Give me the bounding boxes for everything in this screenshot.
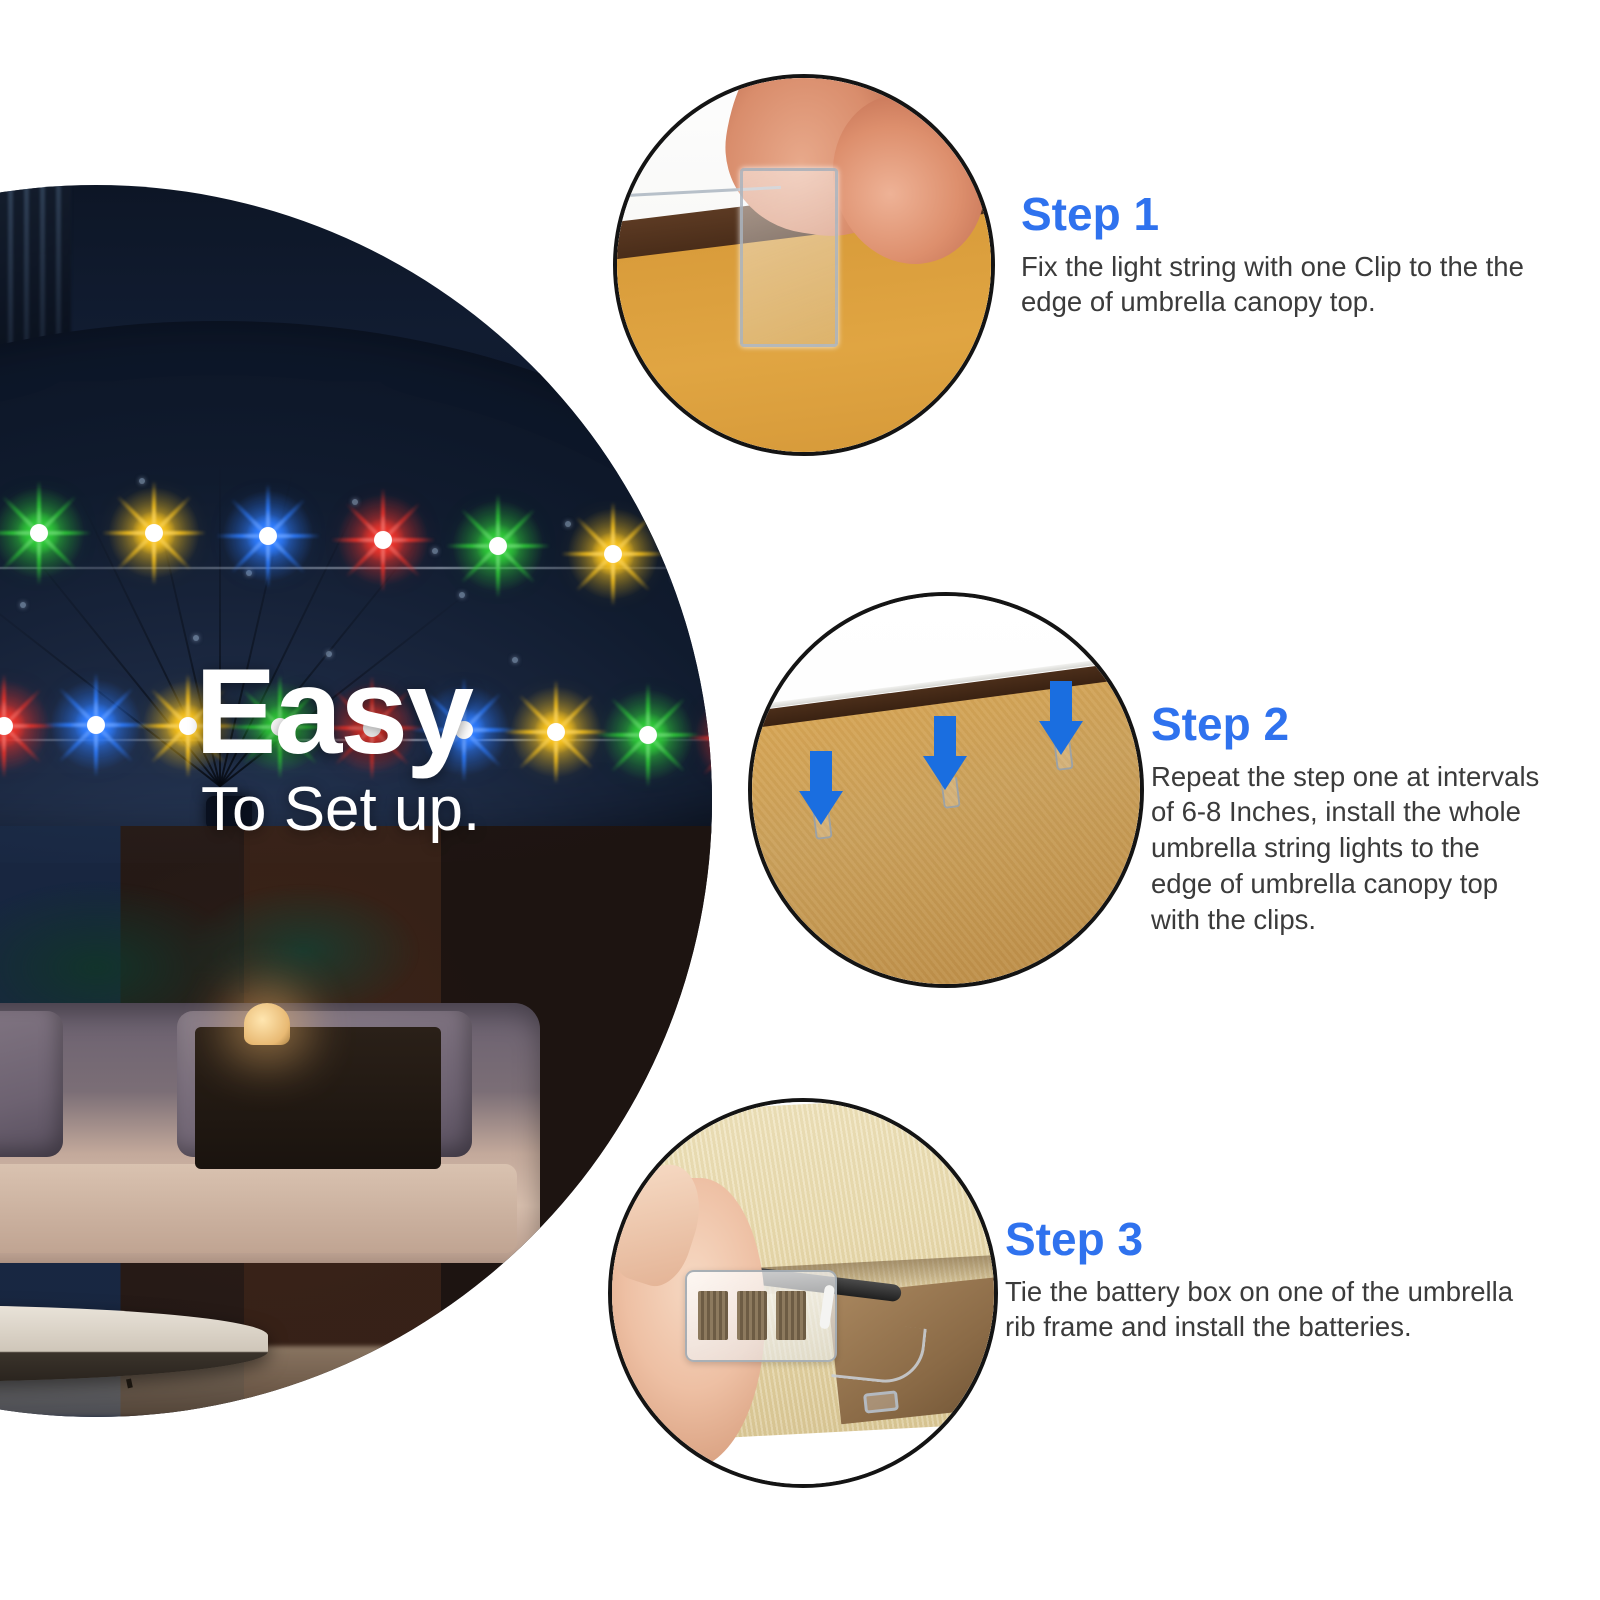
down-arrow-icon	[923, 716, 967, 790]
step-2-text: Step 2 Repeat the step one at intervals …	[1151, 700, 1541, 937]
water-droplet	[20, 602, 26, 608]
clear-clip	[863, 1391, 899, 1414]
step-3-text: Step 3 Tie the battery box on one of the…	[1005, 1215, 1535, 1345]
hero-headline: Easy To Set up.	[195, 655, 480, 842]
step-1-text: Step 1 Fix the light string with one Cli…	[1021, 190, 1531, 320]
water-droplet	[139, 478, 145, 484]
step-1-photo	[613, 74, 995, 456]
step-1-title: Step 1	[1021, 190, 1531, 240]
clear-clip	[740, 168, 837, 348]
step-2-photo	[748, 592, 1144, 988]
battery-cell	[776, 1291, 806, 1340]
down-arrow-icon	[1039, 681, 1083, 755]
water-droplet	[672, 575, 678, 581]
headline-main: Easy	[195, 655, 480, 767]
step-3-body: Tie the battery box on one of the umbrel…	[1005, 1274, 1535, 1346]
patio-scene	[0, 826, 712, 1417]
battery-cell	[698, 1291, 728, 1340]
battery-box	[685, 1270, 838, 1362]
step-3-photo	[608, 1098, 998, 1488]
battery-cell	[737, 1291, 767, 1340]
step-2-title: Step 2	[1151, 700, 1541, 750]
cushion	[0, 1011, 63, 1157]
water-droplet	[512, 657, 518, 663]
water-droplet	[432, 548, 438, 554]
step-1-body: Fix the light string with one Clip to th…	[1021, 249, 1531, 321]
table-lamp	[244, 1003, 290, 1045]
water-droplet	[193, 635, 199, 641]
down-arrow-icon	[799, 751, 843, 825]
headline-sub: To Set up.	[201, 777, 480, 842]
side-table	[195, 1027, 441, 1169]
step-3-title: Step 3	[1005, 1215, 1535, 1265]
water-droplet	[459, 592, 465, 598]
water-droplet	[565, 521, 571, 527]
sofa-seat	[0, 1164, 517, 1252]
infographic-canvas: Easy To Set up. Step 1 Fix the light str…	[0, 0, 1600, 1600]
step-2-body: Repeat the step one at intervals of 6-8 …	[1151, 759, 1541, 938]
